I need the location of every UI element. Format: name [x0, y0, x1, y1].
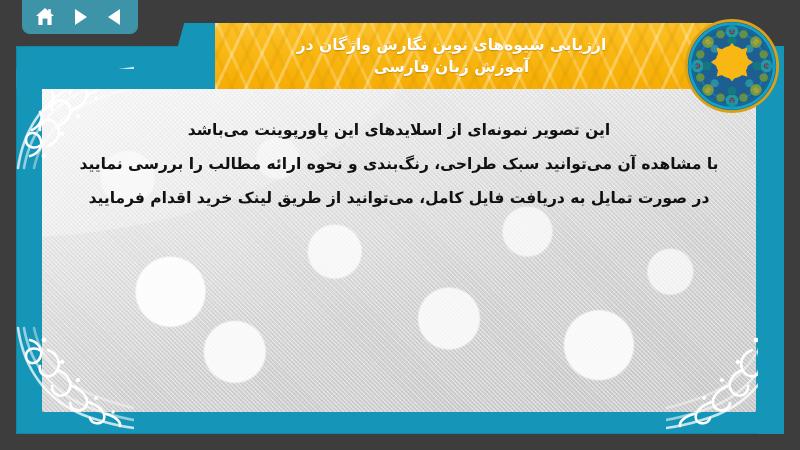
slide-body-text: این تصویر نمونه‌ای از اسلایدهای این پاور…: [60, 118, 738, 211]
home-slide-button[interactable]: [31, 3, 59, 31]
right-teal-edge: [758, 46, 784, 434]
slide-title-bar: ارزیابی شیوه‌های نوین نگارش واژگان در آم…: [215, 23, 740, 89]
previous-slide-button[interactable]: [101, 3, 129, 31]
body-line-1: این تصویر نمونه‌ای از اسلایدهای این پاور…: [60, 118, 738, 143]
triangle-left-icon: [105, 7, 125, 27]
body-line-2: با مشاهده آن می‌توانید سبک طراحی، رنگ‌بن…: [60, 152, 738, 177]
body-line-3: در صورت تمایل به دریافت فایل کامل، می‌تو…: [60, 186, 738, 211]
triangle-right-icon: [70, 7, 90, 27]
home-icon: [34, 6, 56, 28]
persian-medallion-icon: [684, 18, 780, 114]
page-title-line-2: آموزش زبان فارسی: [374, 56, 529, 78]
presentation-slide: ارزیابی شیوه‌های نوین نگارش واژگان در آم…: [0, 0, 800, 450]
slide-navigation-bar: [22, 0, 138, 34]
page-title-line-1: ارزیابی شیوه‌های نوین نگارش واژگان در: [297, 34, 607, 56]
next-slide-button[interactable]: [66, 3, 94, 31]
